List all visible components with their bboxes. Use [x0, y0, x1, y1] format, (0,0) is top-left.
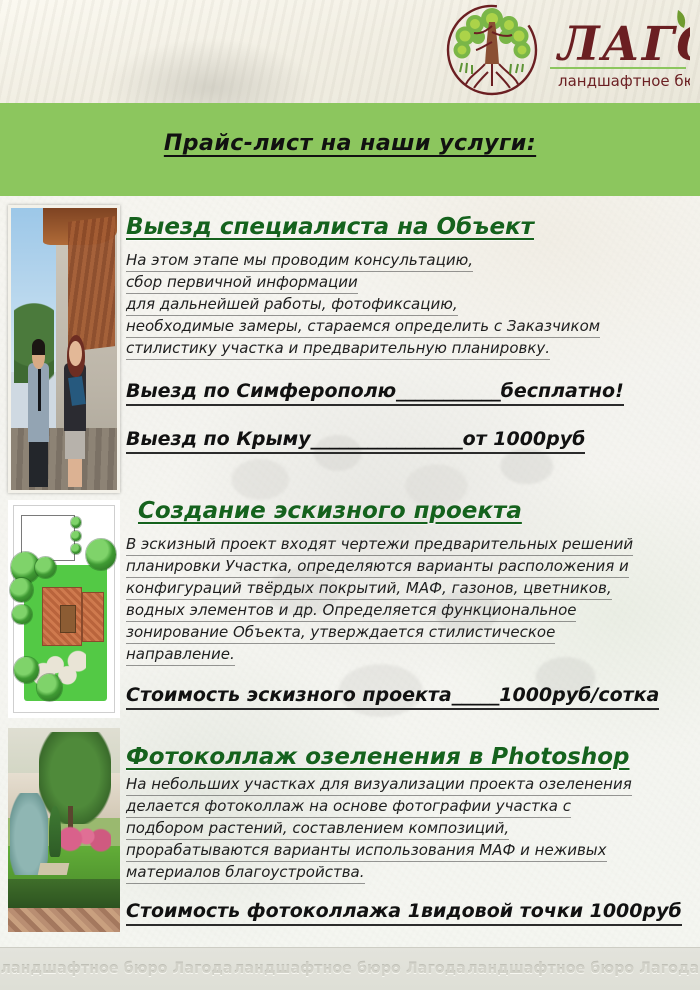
- price-line-sketch: Стоимость эскизного проекта_____1000руб/…: [126, 682, 659, 710]
- plan-flowerbed-2: [82, 592, 104, 642]
- photo-consultation: [8, 205, 120, 493]
- svg-text:ЛАГОДА: ЛАГОДА: [555, 17, 690, 72]
- plan-tree: [10, 578, 32, 602]
- body-line: прорабатываются варианты использования М…: [126, 840, 607, 862]
- body-line: материалов благоустройства.: [126, 862, 365, 884]
- body-line: На небольших участках для визуализации п…: [126, 774, 632, 796]
- garden-paving: [8, 908, 120, 932]
- photo-woman-legs: [68, 456, 82, 487]
- watermark-text: ландшафтное бюро Лагода: [234, 961, 466, 977]
- section-body-visit: На этом этапе мы проводим консультацию, …: [126, 250, 688, 360]
- body-line: В эскизный проект входят чертежи предвар…: [126, 534, 633, 556]
- body-line: делается фотоколлаж на основе фотографии…: [126, 796, 571, 818]
- garden-hedge: [8, 879, 120, 908]
- plan-tree: [12, 605, 31, 625]
- photo-landscape-plan: [8, 500, 120, 718]
- price-line-crimea: Выезд по Крыму________________от 1000руб: [126, 426, 585, 454]
- photo-woman-head: [69, 341, 82, 366]
- section-visit: Выезд специалиста на Объект На этом этап…: [126, 214, 688, 454]
- svg-text:ландшафтное бюро: ландшафтное бюро: [558, 72, 690, 90]
- body-line: сбор первичной информации: [126, 272, 358, 294]
- photo-paving: [11, 428, 117, 490]
- body-line: На этом этапе мы проводим консультацию,: [126, 250, 473, 272]
- tree-with-roots-icon: ЛАГОДА ландшафтное бюро: [440, 2, 690, 100]
- section-body-sketch: В эскизный проект входят чертежи предвар…: [126, 534, 688, 666]
- section-title-collage: Фотоколлаж озеленения в Photoshop: [126, 744, 629, 770]
- section-sketch: Создание эскизного проекта В эскизный пр…: [138, 498, 688, 710]
- price-line-collage: Стоимость фотоколлажа 1видовой точки 100…: [126, 898, 682, 926]
- body-line: стилистику участка и предварительную пла…: [126, 338, 550, 360]
- section-body-collage: На небольших участках для визуализации п…: [126, 774, 688, 884]
- plan-tree: [37, 674, 62, 700]
- body-line: подбором растений, составлением композиц…: [126, 818, 509, 840]
- plan-patio: [60, 605, 77, 633]
- section-collage: Фотоколлаж озеленения в Photoshop На неб…: [126, 744, 688, 926]
- price-line-simferopol: Выезд по Симферополю___________бесплатно…: [126, 378, 624, 406]
- photo-man-tie: [38, 369, 41, 411]
- watermark-text: ландшафтное бюро Лагода: [467, 961, 699, 977]
- plan-tree: [71, 531, 81, 542]
- plan-tree: [71, 544, 81, 555]
- page-title: Прайс-лист на наши услуги:: [0, 131, 700, 156]
- footer-watermark-bar: ландшафтное бюро Лагода ландшафтное бюро…: [0, 947, 700, 990]
- photo-man-hair: [32, 339, 46, 355]
- plan-tree: [86, 539, 115, 570]
- body-line: необходимые замеры, стараемся определить…: [126, 316, 600, 338]
- logo[interactable]: ЛАГОДА ландшафтное бюро: [440, 2, 690, 100]
- body-line: планировки Участка, определяются вариант…: [126, 556, 629, 578]
- body-line: зонирование Объекта, утверждается стилис…: [126, 622, 555, 644]
- garden-tree: [39, 732, 111, 824]
- watermark-text: ландшафтное бюро Лагода: [1, 961, 233, 977]
- body-line: конфигураций твёрдых покрытий, МАФ, газо…: [126, 578, 612, 600]
- section-title-sketch: Создание эскизного проекта: [138, 498, 522, 524]
- photo-garden: [8, 728, 120, 932]
- photo-balcony: [68, 216, 115, 351]
- price-list-page: ЛАГОДА ландшафтное бюро Прайс-лист на на…: [0, 0, 700, 990]
- section-title-visit: Выезд специалиста на Объект: [126, 214, 534, 240]
- garden-stepping-stones: [38, 863, 70, 875]
- body-line: водных элементов и др. Определяется функ…: [126, 600, 576, 622]
- body-line: направление.: [126, 644, 235, 666]
- page-header: ЛАГОДА ландшафтное бюро: [0, 0, 700, 103]
- garden-thuja: [49, 806, 60, 857]
- body-line: для дальнейшей работы, фотофиксацию,: [126, 294, 458, 316]
- garden-flowers: [60, 826, 112, 853]
